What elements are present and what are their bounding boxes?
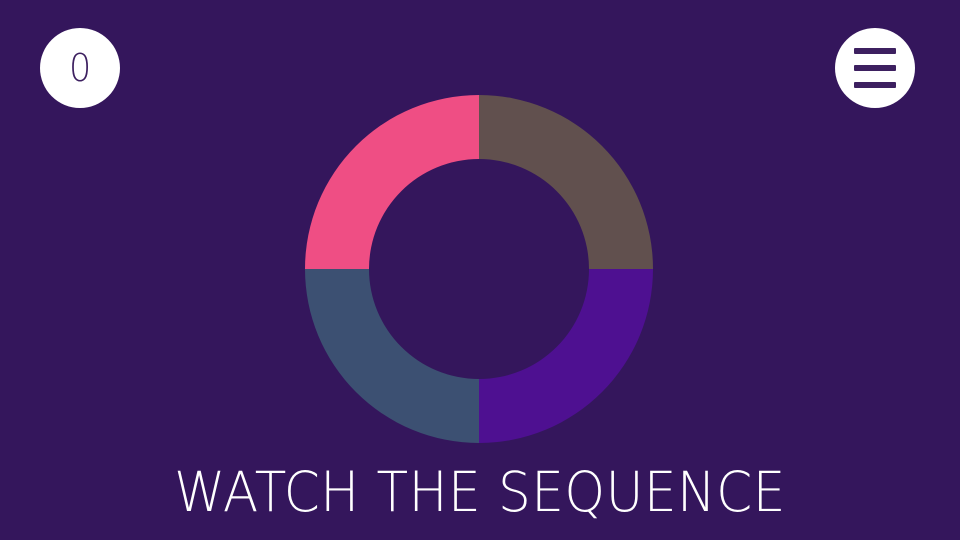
hamburger-menu-icon-bar-1 xyxy=(854,48,896,54)
ring-segment-bottom-right[interactable] xyxy=(479,269,653,443)
score-value: 0 xyxy=(69,49,91,87)
ring-segment-bottom-left[interactable] xyxy=(305,269,479,443)
ring-segment-top-left[interactable] xyxy=(305,95,479,269)
hamburger-menu-icon-bar-3 xyxy=(854,82,896,88)
ring-segment-top-right[interactable] xyxy=(479,95,653,269)
hamburger-menu-icon-bar-2 xyxy=(854,65,896,71)
game-screen: 0 WATCH THE SEQUENCE xyxy=(0,0,960,540)
menu-button[interactable] xyxy=(835,28,915,108)
score-badge: 0 xyxy=(40,28,120,108)
sequence-ring[interactable] xyxy=(305,95,653,443)
status-message: WATCH THE SEQUENCE xyxy=(29,462,931,522)
